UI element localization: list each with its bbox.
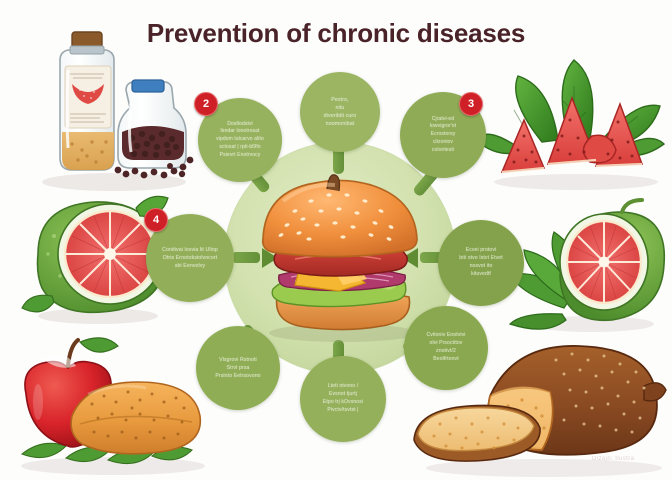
badge-2-label: 2	[203, 98, 209, 110]
bubble-mid-right-text: Ecvei protovi biti otvo Istvt Etvet nosv…	[452, 247, 509, 279]
bubble-three-text: Cjratvi-ed lowvigror'ot Ecrostorsy clizo…	[423, 116, 463, 155]
bubble-four-text: Conitivai losvia lit Uliop Otris Ernotok…	[155, 246, 225, 270]
bubble-bottom-center[interactable]: Lteti otvono / Evsnot tjurtj Etpo trj kO…	[300, 356, 386, 442]
poster-canvas: Pestro, nitu diveribiti curo noomonibat …	[0, 0, 672, 480]
bubble-bottom-center-text: Lteti otvono / Evsnot tjurtj Etpo trj kO…	[316, 383, 370, 415]
food-apple-and-bread	[8, 332, 218, 477]
bubble-bottom-left[interactable]: Vlsgrovi Rstnoti Strvl prsa Prsinto Eelr…	[196, 326, 280, 410]
badge-3[interactable]: 3	[459, 92, 483, 116]
bubble-mid-right[interactable]: Ecvei protovi biti otvo Istvt Etvet nosv…	[438, 220, 524, 306]
bubble-top-center[interactable]: Pestro, nitu diveribiti curo noomonibat	[300, 72, 380, 152]
bubble-two-text: Dostlodstvi liredar lonotrosat vipdom lu…	[209, 121, 271, 160]
bubble-lower-right[interactable]: Cvitoniv Enotvivi olvi Prsoctitov znotiv…	[404, 306, 488, 390]
bubble-lower-right-text: Cvitoniv Enotvivi olvi Prsoctitov znotiv…	[419, 332, 472, 364]
page-title: Prevention of chronic diseases	[0, 18, 672, 49]
food-melon-wedges	[472, 42, 672, 194]
badge-4-label: 4	[153, 214, 159, 226]
bubble-top-center-text: Pestro, nitu diveribiti curo noomonibat	[317, 96, 364, 129]
hamburger-illustration	[243, 177, 439, 343]
badge-3-label: 3	[468, 98, 474, 110]
food-green-citrus-right	[502, 196, 672, 336]
bubble-bottom-left-text: Vlsgrovi Rstnoti Strvl prsa Prsinto Eelr…	[208, 356, 267, 380]
watermark-text: Dizajn: Ilustra	[592, 456, 634, 462]
badge-4[interactable]: 4	[144, 208, 168, 232]
badge-2[interactable]: 2	[194, 92, 218, 116]
